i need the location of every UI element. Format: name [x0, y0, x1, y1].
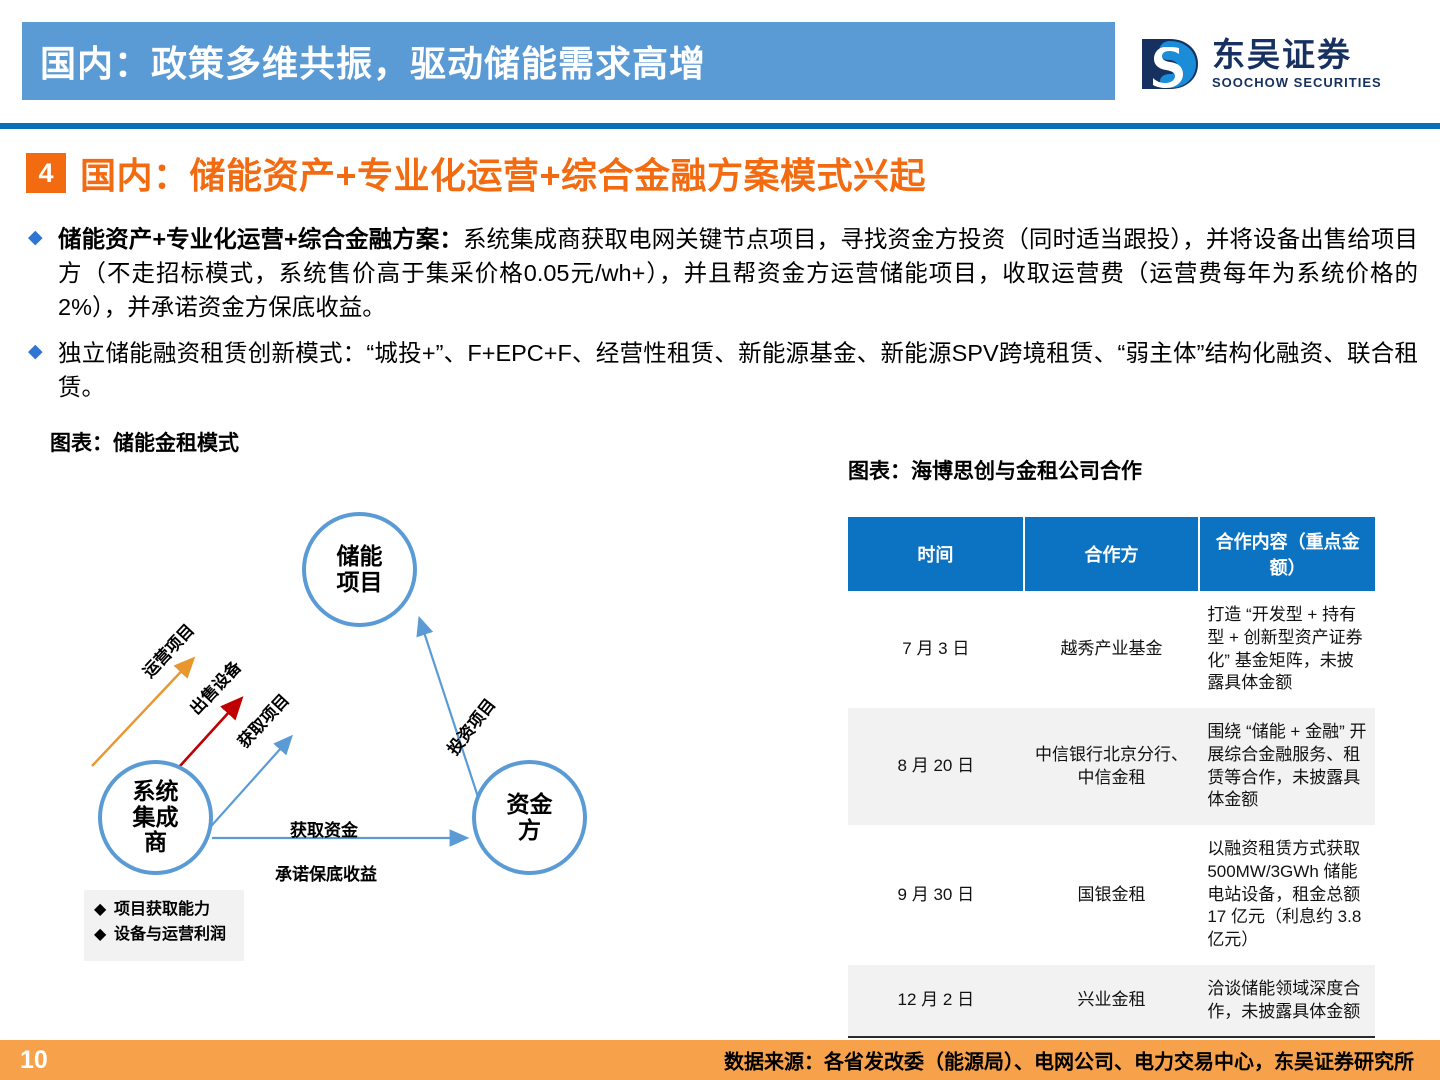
legend-item-label: 项目获取能力 [114, 900, 210, 920]
node-label-block: 系统 集成 商 [133, 779, 179, 856]
diagram-legend-box: ◆ 项目获取能力 ◆ 设备与运营利润 [84, 890, 244, 961]
column-header-party: 合作方 [1024, 517, 1200, 591]
bullet-lead: 储能资产+专业化运营+综合金融方案： [58, 226, 463, 252]
node-system-integrator: 系统 集成 商 [98, 760, 213, 875]
table-body: 7 月 3 日 越秀产业基金 打造 “开发型 + 持有型 + 创新型资产证券化”… [848, 591, 1375, 1037]
cell-content: 围绕 “储能 + 金融” 开展综合金融服务、租赁等合作，未披露具体金额 [1199, 708, 1375, 825]
logo-english-name: SOOCHOW SECURITIES [1212, 75, 1382, 90]
cell-time: 8 月 20 日 [848, 708, 1024, 825]
table-row: 9 月 30 日 国银金租 以融资租赁方式获取 500MW/3GWh 储能电站设… [848, 825, 1375, 965]
page-number: 10 [0, 1046, 48, 1075]
diamond-bullet-icon: ◆ [94, 925, 114, 945]
section-number-badge: 4 [26, 153, 66, 193]
cell-content: 洽谈储能领域深度合作，未披露具体金额 [1199, 965, 1375, 1038]
node-label-line2: 项目 [337, 570, 383, 596]
node-label-line2: 集成 [133, 805, 179, 831]
table-header-row: 时间 合作方 合作内容（重点金额） [848, 517, 1375, 591]
section-title: 国内：储能资产+专业化运营+综合金融方案模式兴起 [80, 147, 926, 199]
table-row: 8 月 20 日 中信银行北京分行、中信金租 围绕 “储能 + 金融” 开展综合… [848, 708, 1375, 825]
table-row: 12 月 2 日 兴业金租 洽谈储能领域深度合作，未披露具体金额 [848, 965, 1375, 1038]
node-label-line1: 储能 [337, 544, 383, 570]
node-label-line2: 方 [507, 818, 553, 844]
page-title: 国内：政策多维共振，驱动储能需求高增 [22, 35, 706, 87]
right-table-caption: 图表：海博思创与金租公司合作 [848, 455, 1142, 485]
financing-lease-diagram: 储能 项目 系统 集成 商 资金 方 运营项目 出售设备 获取项目 投资项目 获… [40, 470, 680, 1030]
node-label-block: 资金 方 [507, 792, 553, 844]
cell-content: 打造 “开发型 + 持有型 + 创新型资产证券化” 基金矩阵，未披露具体金额 [1199, 591, 1375, 708]
page-footer: 10 数据来源：各省发改委（能源局）、电网公司、电力交易中心，东吴证券研究所 [0, 1040, 1440, 1080]
legend-item: ◆ 设备与运营利润 [94, 925, 236, 945]
cell-party: 越秀产业基金 [1024, 591, 1200, 708]
brand-logo: 东吴证券 SOOCHOW SECURITIES [1140, 33, 1425, 95]
cell-time: 12 月 2 日 [848, 965, 1024, 1038]
bullet-body-text: 独立储能融资租赁创新模式：“城投+”、F+EPC+F、经营性租赁、新能源基金、新… [58, 340, 1418, 400]
soochow-logo-icon [1140, 35, 1202, 93]
node-label-block: 储能 项目 [337, 544, 383, 596]
left-chart-caption: 图表：储能金租模式 [50, 427, 239, 457]
node-label-line1: 系统 [133, 779, 179, 805]
cell-party: 兴业金租 [1024, 965, 1200, 1038]
column-header-content: 合作内容（重点金额） [1199, 517, 1375, 591]
section-heading: 4 国内：储能资产+专业化运营+综合金融方案模式兴起 [26, 147, 926, 199]
node-capital-provider: 资金 方 [472, 760, 587, 875]
bullet-list: ◆ 储能资产+专业化运营+综合金融方案：系统集成商获取电网关键节点项目，寻找资金… [28, 222, 1418, 416]
cell-party: 国银金租 [1024, 825, 1200, 965]
cooperation-table-wrapper: 时间 合作方 合作内容（重点金额） 7 月 3 日 越秀产业基金 打造 “开发型… [848, 517, 1375, 1038]
bullet-text: 独立储能融资租赁创新模式：“城投+”、F+EPC+F、经营性租赁、新能源基金、新… [58, 336, 1418, 404]
bullet-item: ◆ 储能资产+专业化运营+综合金融方案：系统集成商获取电网关键节点项目，寻找资金… [28, 222, 1418, 324]
node-storage-project: 储能 项目 [302, 512, 417, 627]
header-title-band: 国内：政策多维共振，驱动储能需求高增 [22, 22, 1115, 100]
cell-content: 以融资租赁方式获取 500MW/3GWh 储能电站设备，租金总额 17 亿元（利… [1199, 825, 1375, 965]
header-divider [0, 123, 1440, 129]
column-header-time: 时间 [848, 517, 1024, 591]
diamond-bullet-icon: ◆ [94, 900, 114, 920]
diamond-bullet-icon: ◆ [28, 222, 58, 324]
bullet-text: 储能资产+专业化运营+综合金融方案：系统集成商获取电网关键节点项目，寻找资金方投… [58, 222, 1418, 324]
arrow-label-get-funding: 获取资金 [290, 816, 358, 841]
logo-chinese-name: 东吴证券 [1212, 38, 1382, 73]
arrow-label-guarantee-return: 承诺保底收益 [275, 860, 377, 885]
diamond-bullet-icon: ◆ [28, 336, 58, 404]
footer-source-note: 数据来源：各省发改委（能源局）、电网公司、电力交易中心，东吴证券研究所 [724, 1046, 1414, 1075]
node-label-line3: 商 [133, 830, 179, 856]
legend-item-label: 设备与运营利润 [114, 925, 226, 945]
bullet-item: ◆ 独立储能融资租赁创新模式：“城投+”、F+EPC+F、经营性租赁、新能源基金… [28, 336, 1418, 404]
table-row: 7 月 3 日 越秀产业基金 打造 “开发型 + 持有型 + 创新型资产证券化”… [848, 591, 1375, 708]
table-header: 时间 合作方 合作内容（重点金额） [848, 517, 1375, 591]
legend-item: ◆ 项目获取能力 [94, 900, 236, 920]
logo-text-block: 东吴证券 SOOCHOW SECURITIES [1212, 38, 1382, 90]
cell-time: 9 月 30 日 [848, 825, 1024, 965]
node-label-line1: 资金 [507, 792, 553, 818]
cooperation-table: 时间 合作方 合作内容（重点金额） 7 月 3 日 越秀产业基金 打造 “开发型… [848, 517, 1375, 1038]
cell-party: 中信银行北京分行、中信金租 [1024, 708, 1200, 825]
cell-time: 7 月 3 日 [848, 591, 1024, 708]
